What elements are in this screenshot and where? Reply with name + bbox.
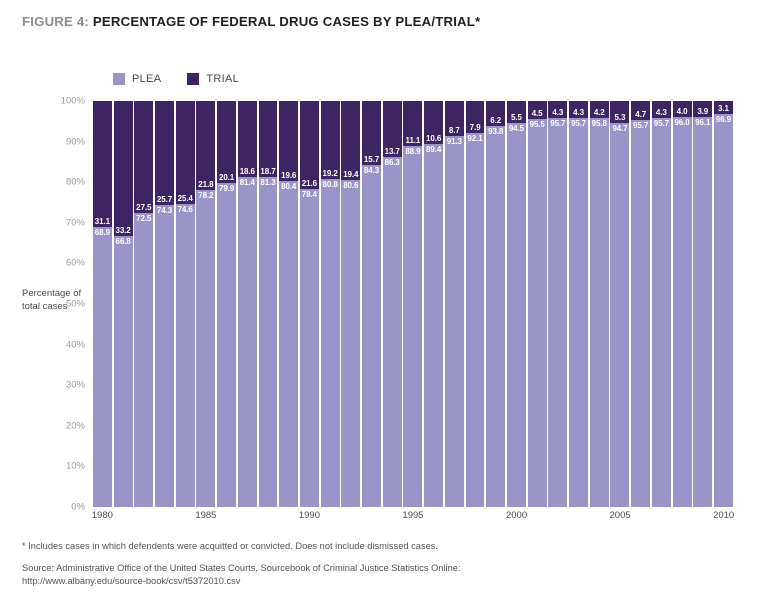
bar-column[interactable]: 4.295.8 (590, 101, 609, 507)
bar-segment-trial[interactable]: 21.8 (196, 101, 215, 190)
bar-value-label-trial: 4.3 (548, 108, 567, 117)
bar-value-label-trial: 25.7 (155, 195, 174, 204)
bar-value-label-trial: 27.5 (134, 203, 153, 212)
x-axis-tick-labels: 1980198519901995200020052010 (92, 510, 734, 526)
legend-swatch-icon-plea (113, 73, 125, 85)
bar-segment-plea[interactable]: 79.9 (217, 183, 236, 507)
figure-number: FIGURE 4: (22, 14, 89, 29)
bar-value-label-trial: 18.6 (238, 167, 257, 176)
bar-column[interactable]: 10.689.4 (424, 101, 443, 507)
bar-segment-plea[interactable]: 66.8 (114, 236, 133, 507)
bar-segment-trial[interactable]: 5.5 (507, 101, 526, 123)
bar-value-label-plea: 95.7 (652, 119, 671, 128)
footnotes: * Includes cases in which defendents wer… (22, 540, 642, 588)
y-axis-tick-label: 10% (66, 461, 85, 472)
bar-column[interactable]: 8.791.3 (445, 101, 464, 507)
bar-segment-plea[interactable]: 95.7 (569, 118, 588, 507)
bar-segment-trial[interactable]: 33.2 (114, 101, 133, 236)
bar-segment-trial[interactable]: 4.7 (631, 101, 650, 120)
legend-item-plea: PLEA (113, 73, 161, 85)
bar-value-label-plea: 95.8 (590, 119, 609, 128)
bar-value-label-plea: 95.7 (548, 119, 567, 128)
bar-value-label-trial: 21.8 (196, 180, 215, 189)
source-text: Source: Administrative Office of the Uni… (22, 563, 461, 573)
legend-swatch-icon-trial (187, 73, 199, 85)
bar-column[interactable]: 19.480.6 (341, 101, 360, 507)
bar-value-label-trial: 4.5 (528, 109, 547, 118)
bar-segment-trial[interactable]: 4.3 (548, 101, 567, 118)
bar-segment-plea[interactable]: 92.1 (466, 133, 485, 507)
bar-segment-plea[interactable]: 94.5 (507, 123, 526, 507)
bar-column[interactable]: 27.572.5 (134, 101, 153, 507)
bar-column[interactable]: 25.774.3 (155, 101, 174, 507)
bar-column[interactable]: 18.781.3 (259, 101, 278, 507)
bar-column[interactable]: 4.395.7 (652, 101, 671, 507)
bar-value-label-plea: 95.5 (528, 120, 547, 129)
y-axis-tick-label: 0% (71, 502, 85, 513)
bar-value-label-plea: 79.9 (217, 184, 236, 193)
x-axis-tick-label: 2010 (713, 510, 734, 521)
bar-value-label-trial: 4.7 (631, 110, 650, 119)
bar-segment-plea[interactable]: 80.8 (321, 179, 340, 507)
bar-value-label-plea: 78.4 (300, 190, 319, 199)
bar-segment-trial[interactable]: 25.4 (176, 101, 195, 204)
bar-value-label-trial: 25.4 (176, 194, 195, 203)
bar-column[interactable]: 4.595.5 (528, 101, 547, 507)
bar-column[interactable]: 33.266.8 (114, 101, 133, 507)
bar-segment-trial[interactable]: 18.7 (259, 101, 278, 177)
bar-segment-plea[interactable]: 80.4 (279, 181, 298, 507)
bar-segment-trial[interactable]: 6.2 (486, 101, 505, 126)
bar-segment-plea[interactable]: 94.7 (610, 123, 629, 507)
bar-value-label-trial: 4.3 (569, 108, 588, 117)
bar-column[interactable]: 19.280.8 (321, 101, 340, 507)
bar-column[interactable]: 5.594.5 (507, 101, 526, 507)
bar-value-label-trial: 7.9 (466, 123, 485, 132)
x-axis-tick-label: 1995 (402, 510, 423, 521)
x-axis-tick-label: 2005 (610, 510, 631, 521)
bar-segment-trial[interactable]: 21.6 (300, 101, 319, 189)
bar-segment-plea[interactable]: 95.8 (590, 118, 609, 507)
legend-label: TRIAL (206, 73, 239, 85)
bar-value-label-plea: 68.9 (93, 228, 112, 237)
bar-value-label-trial: 19.6 (279, 171, 298, 180)
bar-value-label-trial: 3.1 (714, 104, 733, 113)
bar-column[interactable]: 21.678.4 (300, 101, 319, 507)
bar-value-label-plea: 81.3 (259, 178, 278, 187)
bar-segment-trial[interactable]: 8.7 (445, 101, 464, 136)
bar-segment-trial[interactable]: 31.1 (93, 101, 112, 227)
bar-column[interactable]: 20.179.9 (217, 101, 236, 507)
bar-value-label-trial: 33.2 (114, 226, 133, 235)
x-axis-tick-label: 1985 (195, 510, 216, 521)
y-axis-tick-label: 20% (66, 420, 85, 431)
bar-value-label-plea: 94.7 (610, 124, 629, 133)
bar-column[interactable]: 4.795.7 (631, 101, 650, 507)
y-axis-tick-label: 60% (66, 258, 85, 269)
bar-value-label-plea: 86.3 (383, 158, 402, 167)
bar-segment-trial[interactable]: 3.9 (693, 101, 712, 117)
bar-column[interactable]: 3.996.1 (693, 101, 712, 507)
legend-item-trial: TRIAL (187, 73, 239, 85)
bar-column[interactable]: 6.293.8 (486, 101, 505, 507)
x-axis-tick-label: 1990 (299, 510, 320, 521)
chart-plot-wrapper: 31.168.933.266.827.572.525.774.325.474.6… (92, 101, 734, 507)
bar-value-label-plea: 95.7 (569, 119, 588, 128)
bar-value-label-plea: 96.0 (673, 118, 692, 127)
bar-segment-trial[interactable]: 4.3 (569, 101, 588, 118)
bar-segment-trial[interactable]: 15.7 (362, 101, 381, 165)
bar-segment-trial[interactable]: 25.7 (155, 101, 174, 205)
footnote-asterisk: * Includes cases in which defendents wer… (22, 540, 642, 553)
bar-segment-trial[interactable]: 4.2 (590, 101, 609, 118)
bar-column[interactable]: 7.992.1 (466, 101, 485, 507)
bar-value-label-plea: 91.3 (445, 137, 464, 146)
bar-value-label-trial: 6.2 (486, 116, 505, 125)
legend-label: PLEA (132, 73, 161, 85)
footnote-source: Source: Administrative Office of the Uni… (22, 562, 642, 588)
bar-column[interactable]: 18.681.4 (238, 101, 257, 507)
x-axis-tick-label: 2000 (506, 510, 527, 521)
bar-value-label-trial: 10.6 (424, 134, 443, 143)
y-axis-tick-label: 80% (66, 177, 85, 188)
bar-segment-plea[interactable]: 84.3 (362, 165, 381, 507)
bar-column[interactable]: 4.395.7 (548, 101, 567, 507)
bar-value-label-plea: 93.8 (486, 127, 505, 136)
y-axis-tick-label: 90% (66, 136, 85, 147)
bar-segment-plea[interactable]: 78.4 (300, 189, 319, 507)
bar-segment-plea[interactable]: 80.6 (341, 180, 360, 507)
bar-value-label-trial: 8.7 (445, 126, 464, 135)
bar-value-label-trial: 5.5 (507, 113, 526, 122)
bar-segment-plea[interactable]: 72.5 (134, 213, 153, 507)
bar-segment-plea[interactable]: 68.9 (93, 227, 112, 507)
figure-title-text: PERCENTAGE OF FEDERAL DRUG CASES BY PLEA… (93, 14, 480, 29)
bar-segment-trial[interactable]: 19.6 (279, 101, 298, 181)
bar-segment-trial[interactable]: 27.5 (134, 101, 153, 213)
bar-segment-plea[interactable]: 86.3 (383, 157, 402, 507)
bar-segment-plea[interactable]: 93.8 (486, 126, 505, 507)
bar-value-label-trial: 3.9 (693, 107, 712, 116)
bar-segment-trial[interactable]: 10.6 (424, 101, 443, 144)
bar-value-label-trial: 18.7 (259, 167, 278, 176)
bar-value-label-plea: 74.6 (176, 205, 195, 214)
bar-value-label-plea: 94.5 (507, 124, 526, 133)
bar-segment-trial[interactable]: 4.0 (673, 101, 692, 117)
y-axis-tick-label: 100% (61, 96, 85, 107)
chart-legend: PLEATRIAL (113, 70, 239, 88)
bar-value-label-plea: 80.4 (279, 182, 298, 191)
page-title: FIGURE 4: PERCENTAGE OF FEDERAL DRUG CAS… (22, 14, 480, 29)
bar-value-label-plea: 84.3 (362, 166, 381, 175)
bar-value-label-plea: 78.2 (196, 191, 215, 200)
bar-value-label-plea: 96.1 (693, 118, 712, 127)
bar-column[interactable]: 3.196.9 (714, 101, 733, 507)
bar-column[interactable]: 4.395.7 (569, 101, 588, 507)
source-url: http://www.albany.edu/source-book/csv/t5… (22, 575, 642, 588)
bar-column[interactable]: 31.168.9 (93, 101, 112, 507)
bar-segment-trial[interactable]: 18.6 (238, 101, 257, 177)
bar-segment-trial[interactable]: 7.9 (466, 101, 485, 133)
bar-value-label-plea: 95.7 (631, 121, 650, 130)
bar-value-label-trial: 11.1 (403, 136, 422, 145)
bar-segment-trial[interactable]: 4.5 (528, 101, 547, 119)
bar-value-label-trial: 20.1 (217, 173, 236, 182)
bar-column[interactable]: 15.784.3 (362, 101, 381, 507)
bar-segment-plea[interactable]: 95.7 (631, 120, 650, 507)
bar-column[interactable]: 21.878.2 (196, 101, 215, 507)
bar-value-label-plea: 81.4 (238, 178, 257, 187)
bar-segment-trial[interactable]: 11.1 (403, 101, 422, 146)
bar-segment-plea[interactable]: 96.9 (714, 114, 733, 507)
bar-value-label-trial: 19.2 (321, 169, 340, 178)
bar-value-label-trial: 4.3 (652, 108, 671, 117)
bar-segment-plea[interactable]: 74.3 (155, 205, 174, 507)
bar-segment-plea[interactable]: 81.4 (238, 177, 257, 507)
bar-value-label-trial: 31.1 (93, 217, 112, 226)
bar-segment-plea[interactable]: 74.6 (176, 204, 195, 507)
y-axis-tick-label: 70% (66, 217, 85, 228)
bar-segment-trial[interactable]: 19.2 (321, 101, 340, 179)
bar-value-label-plea: 89.4 (424, 145, 443, 154)
bar-column[interactable]: 25.474.6 (176, 101, 195, 507)
bar-segment-trial[interactable]: 13.7 (383, 101, 402, 157)
y-axis-tick-label: 40% (66, 339, 85, 350)
bar-segment-plea[interactable]: 95.7 (548, 118, 567, 507)
bar-value-label-trial: 5.3 (610, 113, 629, 122)
y-axis-tick-label: 30% (66, 380, 85, 391)
bar-segment-trial[interactable]: 19.4 (341, 101, 360, 180)
bar-segment-plea[interactable]: 78.2 (196, 190, 215, 508)
bar-column[interactable]: 5.394.7 (610, 101, 629, 507)
bar-column[interactable]: 19.680.4 (279, 101, 298, 507)
bar-column[interactable]: 13.786.3 (383, 101, 402, 507)
bar-segment-plea[interactable]: 89.4 (424, 144, 443, 507)
bar-segment-trial[interactable]: 4.3 (652, 101, 671, 118)
bar-segment-plea[interactable]: 95.5 (528, 119, 547, 507)
stacked-bar-chart: 31.168.933.266.827.572.525.774.325.474.6… (92, 101, 734, 507)
bar-column[interactable]: 4.096.0 (673, 101, 692, 507)
bar-segment-trial[interactable]: 20.1 (217, 101, 236, 183)
bar-column[interactable]: 11.188.9 (403, 101, 422, 507)
y-axis-tick-label: 50% (66, 299, 85, 310)
bar-segment-plea[interactable]: 88.9 (403, 146, 422, 507)
bar-value-label-plea: 72.5 (134, 214, 153, 223)
bar-segment-trial[interactable]: 5.3 (610, 101, 629, 123)
bar-value-label-trial: 21.6 (300, 179, 319, 188)
bar-value-label-plea: 66.8 (114, 237, 133, 246)
x-axis-tick-label: 1980 (92, 510, 113, 521)
bar-value-label-trial: 4.0 (673, 107, 692, 116)
bar-value-label-plea: 74.3 (155, 206, 174, 215)
bar-value-label-trial: 15.7 (362, 155, 381, 164)
bar-value-label-plea: 80.6 (341, 181, 360, 190)
bar-value-label-plea: 96.9 (714, 115, 733, 124)
bar-segment-plea[interactable]: 96.1 (693, 117, 712, 507)
bar-value-label-trial: 4.2 (590, 108, 609, 117)
bar-value-label-plea: 88.9 (403, 147, 422, 156)
bar-segment-plea[interactable]: 81.3 (259, 177, 278, 507)
bar-segment-trial[interactable]: 3.1 (714, 101, 733, 114)
bar-segment-plea[interactable]: 96.0 (673, 117, 692, 507)
bar-segment-plea[interactable]: 91.3 (445, 136, 464, 507)
bar-value-label-trial: 19.4 (341, 170, 360, 179)
bar-value-label-plea: 92.1 (466, 134, 485, 143)
bar-value-label-plea: 80.8 (321, 180, 340, 189)
bar-segment-plea[interactable]: 95.7 (652, 118, 671, 507)
bar-value-label-trial: 13.7 (383, 147, 402, 156)
